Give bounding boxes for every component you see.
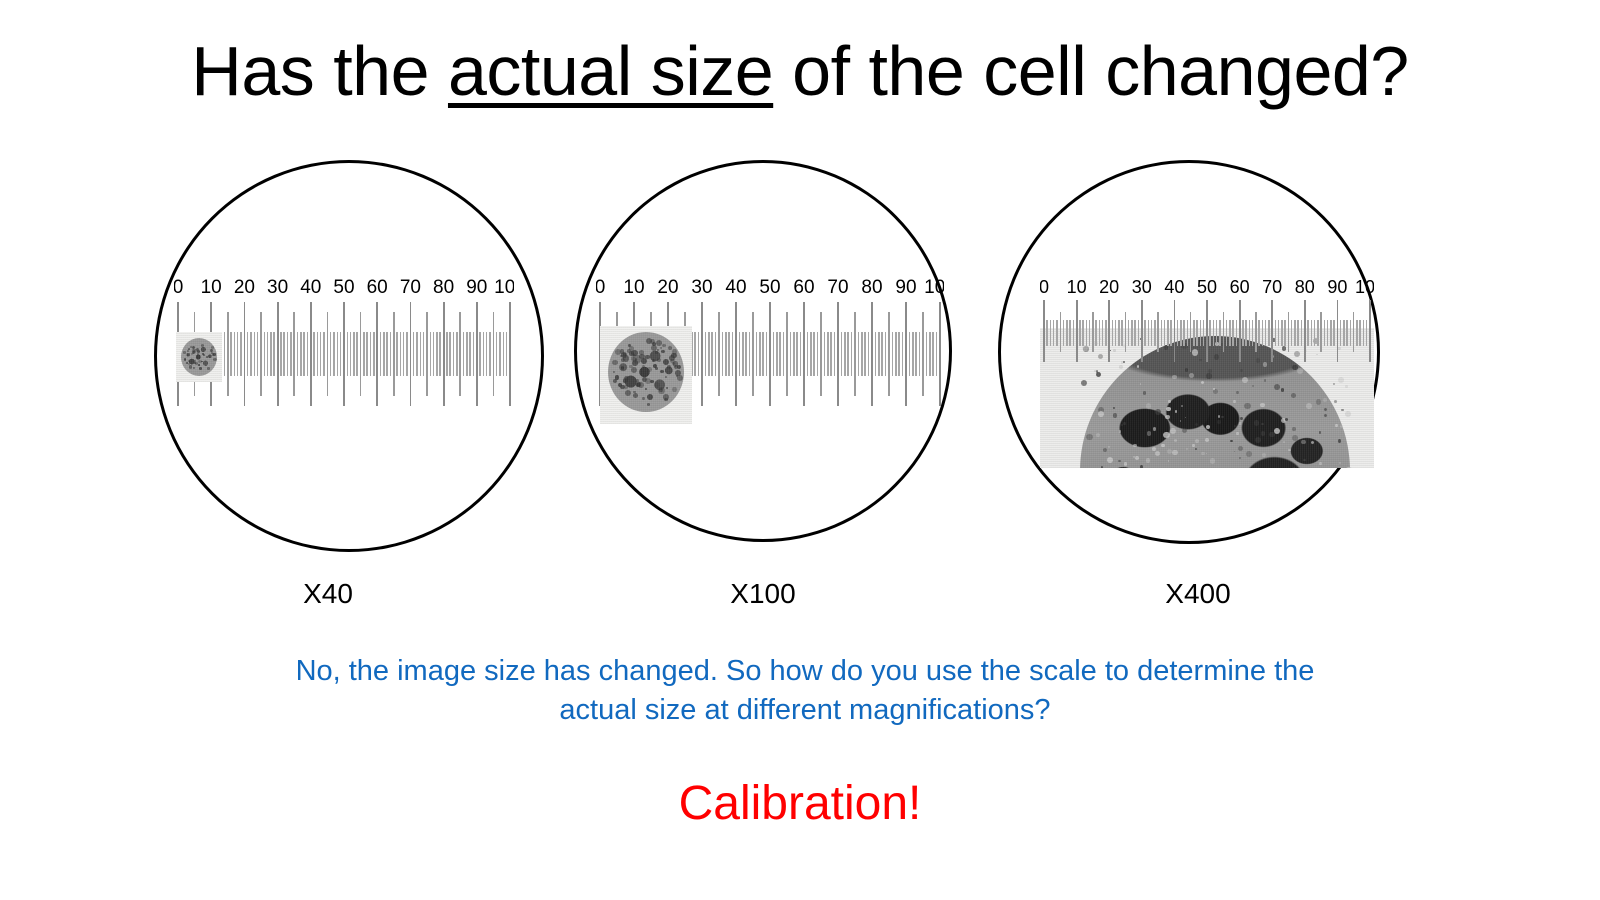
graticule-tick-label: 30 [267,278,288,297]
graticule-tick-label: 0 [174,278,183,297]
graticule-tick [769,302,771,406]
micrograph-speck [1163,432,1169,438]
cell-specimen-100x [600,326,692,424]
graticule-tick [732,332,734,376]
micrograph-speck [639,350,644,355]
graticule-tick [1213,320,1215,346]
graticule-tick [1167,320,1169,346]
micrograph-speck [662,344,666,348]
micrograph-speck [183,351,186,354]
micrograph-speck [1274,428,1280,434]
micrograph-speck [1121,424,1123,426]
micrograph-speck [1319,431,1322,434]
graticule-tick-label: 30 [691,278,712,297]
graticule-tick [353,332,355,376]
micrograph-speck [665,376,668,379]
magnification-label-400x: X400 [1098,578,1298,610]
graticule-tick [1066,320,1068,346]
graticule-tick [786,312,788,396]
graticule-tick [1359,320,1361,346]
graticule-tick [390,332,392,376]
graticule-tick [1125,312,1127,352]
micrograph-speck [1324,408,1327,411]
graticule-tick [257,332,259,376]
graticule-tick [1317,320,1319,346]
graticule-tick [728,332,730,376]
graticule-tick [489,332,491,376]
graticule-tick [1216,320,1218,346]
graticule-tick [1223,312,1225,352]
graticule-tick [254,332,256,376]
micrograph-speck [645,388,647,390]
graticule-tick [1245,320,1247,346]
graticule-tick [237,332,239,376]
graticule-tick [718,312,720,396]
graticule-tick [1086,320,1088,346]
graticule-tick [386,332,388,376]
graticule-tick [1112,320,1114,346]
graticule-tick [1050,320,1052,346]
graticule-tick [1095,320,1097,346]
micrograph-speck [633,393,638,398]
graticule-tick [1366,320,1368,346]
graticule-scale: 0102030405060708090100 [1040,278,1374,388]
graticule-tick-label: 30 [1132,278,1152,297]
graticule-tick [701,302,703,406]
graticule-tick-label: 90 [1327,278,1347,297]
micrograph-speck [629,351,634,356]
graticule-tick [912,332,914,376]
graticule-tick [871,302,873,406]
micrograph-speck [1155,451,1160,456]
graticule-tick [1291,320,1293,346]
micrograph-speck [1165,415,1170,420]
micrograph-speck [625,390,631,396]
graticule-tick [1082,320,1084,346]
graticule-tick [1304,300,1306,362]
micrograph-speck [1185,417,1187,419]
micrograph-speck [1101,466,1103,468]
graticule-tick [509,302,511,406]
graticule-tick [426,312,428,396]
graticule-tick [905,302,907,406]
graticule-tick [1170,320,1172,346]
graticule-tick [264,332,266,376]
micrograph-speck [1113,413,1117,417]
graticule-tick [1307,320,1309,346]
graticule-tick [1333,320,1335,346]
graticule-tick [1258,320,1260,346]
micrograph-speck [655,367,658,370]
micrograph-speck [1239,457,1241,459]
graticule-tick [347,332,349,376]
graticule-scale: 0102030405060708090100 [174,278,514,406]
micrograph-speck [1306,403,1312,409]
graticule-tick [469,332,471,376]
graticule-tick [841,332,843,376]
micrograph-speck [620,385,624,389]
graticule-tick [280,332,282,376]
micrograph-speck [1143,391,1147,395]
micrograph-speck [192,349,194,351]
graticule-tick [499,332,501,376]
graticule-tick [420,332,422,376]
micrograph-speck [1218,415,1221,418]
micrograph-speck [1230,440,1232,442]
micrograph-speck [632,360,638,366]
graticule-tick [1154,320,1156,346]
graticule-tick [430,332,432,376]
graticule-tick [1203,320,1205,346]
graticule-tick [1056,320,1058,346]
graticule-tick [715,332,717,376]
graticule-tick [827,332,829,376]
graticule-tick [1193,320,1195,346]
micrograph-speck [1195,439,1199,443]
micrograph-speck [198,364,199,365]
graticule-tick [1288,312,1290,352]
graticule-tick [837,302,839,406]
micrograph-speck [188,360,190,362]
graticule-tick [400,332,402,376]
graticule-tick-label: 50 [1197,278,1217,297]
graticule-tick [902,332,904,376]
micrograph-speck [1285,418,1289,422]
micrograph-speck [207,367,210,370]
graticule-tick [705,332,707,376]
micrograph-speck [187,350,189,352]
micrograph-speck [205,365,207,367]
graticule-tick [776,332,778,376]
graticule-tick [1141,300,1143,362]
graticule-tick [1151,320,1153,346]
graticule-tick [892,332,894,376]
graticule-tick-label: 80 [1295,278,1315,297]
micrograph-speck [1206,453,1208,455]
graticule-tick [793,332,795,376]
micrograph-speck [189,365,192,368]
micrograph-speck [1146,403,1151,408]
micrograph-speck [1086,434,1092,440]
graticule-tick [1180,320,1182,346]
graticule-tick [810,332,812,376]
graticule-tick [1196,320,1198,346]
graticule-tick [881,332,883,376]
graticule-tick [864,332,866,376]
graticule-tick [722,332,724,376]
graticule-tick [244,302,246,406]
graticule-tick [939,302,941,406]
graticule-tick [1131,320,1133,346]
micrograph-speck [1096,433,1100,437]
graticule-tick [694,332,696,376]
micrograph-speck [193,367,196,370]
graticule-tick [350,332,352,376]
graticule-tick-label: 100 [924,278,944,297]
graticule-tick [1239,300,1241,362]
micrograph-speck [1195,423,1198,426]
graticule-tick [1148,320,1150,346]
micrograph-speck [658,387,664,393]
micrograph-speck [1254,420,1259,425]
graticule-tick [1134,320,1136,346]
micrograph-speck [1233,400,1236,403]
graticule-tick [1236,320,1238,346]
graticule-tick-label: 10 [1067,278,1087,297]
micrograph-speck [1168,460,1170,462]
graticule-tick [240,332,242,376]
graticule-tick [813,332,815,376]
graticule-tick-label: 100 [494,278,514,297]
graticule-tick [317,332,319,376]
graticule-tick [307,332,309,376]
graticule-tick-label: 0 [596,278,605,297]
graticule-tick [267,332,269,376]
graticule-tick [503,332,505,376]
micrograph-speck [664,398,667,401]
graticule-tick [327,312,329,396]
micrograph-speck [1161,444,1164,447]
cell-body [608,332,684,412]
graticule-tick [403,332,405,376]
micrograph-speck [1175,410,1178,413]
micrograph-speck [613,379,617,383]
micrograph-speck [668,346,672,350]
micrograph-speck [1152,447,1156,451]
micrograph-speck [1195,448,1198,451]
graticule-tick [708,332,710,376]
graticule-tick [1190,312,1192,352]
magnification-label-100x: X100 [663,578,863,610]
graticule-tick [898,332,900,376]
micrograph-speck [1205,438,1209,442]
micrograph-speck [667,365,672,370]
graticule-tick [1161,320,1163,346]
graticule-tick [483,332,485,376]
graticule-tick [373,332,375,376]
graticule-tick-label: 60 [793,278,814,297]
micrograph-speck [1311,441,1314,444]
graticule-tick [1275,320,1277,346]
graticule-tick [858,332,860,376]
graticule-tick [1343,320,1345,346]
micrograph-speck [621,352,627,358]
micrograph-speck [187,354,189,356]
graticule-tick [343,302,345,406]
micrograph-speck [1192,444,1195,447]
micrograph-speck [661,350,665,354]
graticule-tick [366,332,368,376]
micrograph-speck [1146,458,1151,463]
graticule-tick [698,332,700,376]
graticule-tick-label: 80 [433,278,454,297]
graticule-tick [293,312,295,396]
micrograph-speck [213,353,215,355]
graticule-tick [1200,320,1202,346]
graticule-tick [1330,320,1332,346]
graticule-tick [800,332,802,376]
graticule-tick [762,332,764,376]
graticule-tick-label: 60 [367,278,388,297]
graticule-tick [416,332,418,376]
graticule-tick [486,332,488,376]
graticule-tick [1350,320,1352,346]
graticule-tick [766,332,768,376]
micrograph-speck [1210,458,1216,464]
graticule-tick [1242,320,1244,346]
graticule-tick [1115,320,1117,346]
graticule-tick [1314,320,1316,346]
graticule-tick [380,332,382,376]
micrograph-speck [1133,444,1136,447]
graticule-tick [739,332,741,376]
graticule-tick [1043,300,1045,362]
graticule-tick [1301,320,1303,346]
micrograph-speck [199,367,202,370]
graticule-tick [453,332,455,376]
graticule-tick [1340,320,1342,346]
answer-text: No, the image size has changed. So how d… [285,652,1325,731]
graticule-tick [370,332,372,376]
graticule-tick [393,312,395,396]
micrograph-speck [671,353,677,359]
micrograph-speck [647,394,653,400]
graticule-tick [493,312,495,396]
graticule-tick [330,332,332,376]
graticule-tick [224,332,226,376]
micrograph-speck [612,360,618,366]
micrograph-speck [1103,448,1107,452]
micrograph-speck [655,351,658,354]
graticule-tick-label: 80 [861,278,882,297]
graticule-tick [506,332,508,376]
graticule-tick [1255,312,1257,352]
page-title: Has the actual size of the cell changed? [0,34,1600,108]
micrograph-speck [1335,424,1338,427]
graticule-tick [1089,320,1091,346]
micrograph-speck [1316,399,1321,404]
graticule-tick [1281,320,1283,346]
graticule-tick [250,332,252,376]
graticule-tick-label: 50 [759,278,780,297]
graticule-tick [1046,320,1048,346]
graticule-tick [496,332,498,376]
micrograph-speck [1261,431,1266,436]
graticule-tick [1252,320,1254,346]
graticule-tick [303,332,305,376]
micrograph-speck [1217,420,1220,423]
micrograph-speck [1206,425,1210,429]
micrograph-speck [1236,432,1239,435]
graticule-tick [773,332,775,376]
graticule-tick [803,302,805,406]
micrograph-speck [1338,439,1341,442]
graticule-tick [1069,320,1071,346]
graticule-tick [1060,312,1062,352]
micrograph-speck [1153,427,1157,431]
graticule-tick [323,332,325,376]
graticule-tick [854,312,856,396]
graticule-tick [1187,320,1189,346]
graticule-tick [396,332,398,376]
graticule-tick [1157,312,1159,352]
micrograph-speck [1181,405,1183,407]
graticule-tick-label: 90 [895,278,916,297]
micrograph-speck [1113,407,1115,409]
micrograph-speck [1186,448,1188,450]
graticule-tick [1356,320,1358,346]
cell-specimen-40x [176,332,222,382]
graticule-tick [1284,320,1286,346]
graticule-tick [847,332,849,376]
micrograph-speck [1166,407,1171,412]
graticule-tick [919,332,921,376]
graticule-tick [817,332,819,376]
graticule-tick-label: 20 [234,278,255,297]
micrograph-speck [628,344,630,346]
micrograph-speck [1260,403,1264,407]
graticule-tick [297,332,299,376]
graticule-tick [320,332,322,376]
graticule-tick [1079,320,1081,346]
graticule-tick-label: 40 [300,278,321,297]
graticule-tick [340,332,342,376]
graticule-tick [1249,320,1251,346]
graticule-tick [1076,300,1078,362]
graticule-tick [1311,320,1313,346]
micrograph-speck [1155,409,1161,415]
graticule-tick [1183,320,1185,346]
graticule-tick [749,332,751,376]
graticule-tick [1232,320,1234,346]
graticule-tick [313,332,315,376]
graticule-tick [273,332,275,376]
graticule-tick [796,332,798,376]
graticule-tick [333,332,335,376]
graticule-tick [300,332,302,376]
micrograph-speck [1341,409,1343,411]
graticule-tick [735,302,737,406]
graticule-tick [439,332,441,376]
micrograph-speck [1238,446,1243,451]
micrograph-speck [1234,451,1236,453]
graticule-tick [1327,320,1329,346]
micrograph-speck [652,359,655,362]
graticule-tick [290,332,292,376]
graticule-labels: 0102030405060708090100 [1040,278,1374,302]
graticule-labels: 0102030405060708090100 [174,278,514,302]
micrograph-speck [192,346,195,349]
micrograph-speck [1108,446,1110,448]
micrograph-speck [1261,423,1264,426]
graticule-tick [443,302,445,406]
micrograph-speck [1182,428,1187,433]
graticule-tick [230,332,232,376]
graticule-tick [466,332,468,376]
micrograph-speck [1244,403,1250,409]
graticule-tick [742,332,744,376]
graticule-tick [363,332,365,376]
micrograph-speck [613,371,615,373]
graticule-tick [1268,320,1270,346]
graticule-tick [1138,320,1140,346]
micrograph-speck [660,370,664,374]
micrograph-speck [206,356,208,358]
graticule-tick-label: 40 [725,278,746,297]
graticule-tick [456,332,458,376]
micrograph-speck [1319,462,1322,465]
graticule-tick [406,332,408,376]
